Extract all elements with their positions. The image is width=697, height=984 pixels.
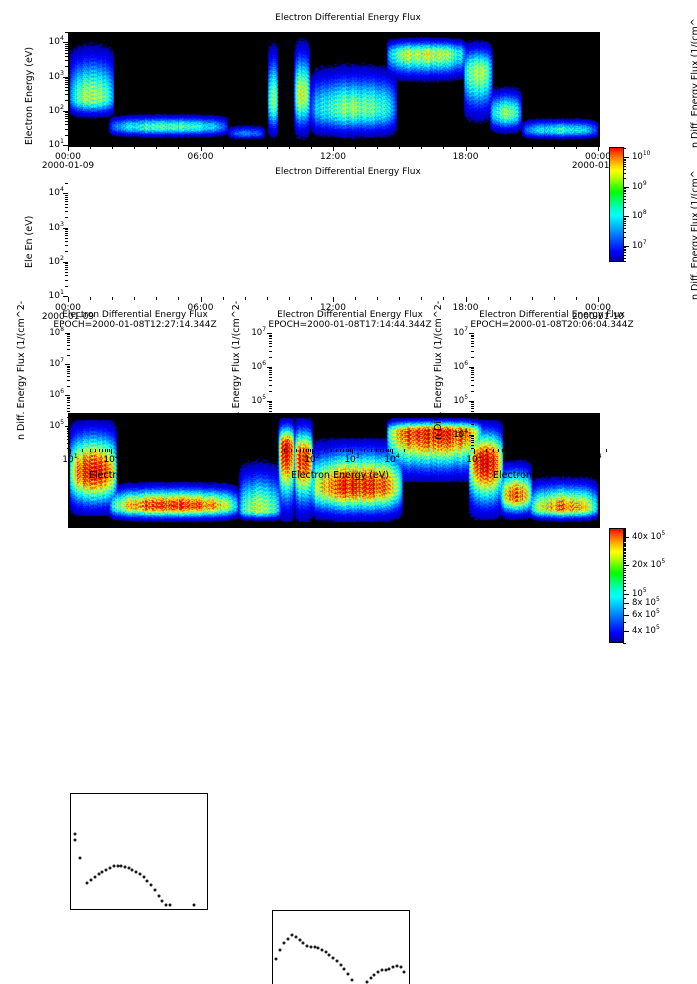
y-minor-tick — [471, 411, 474, 412]
x-minor-tick — [178, 146, 179, 149]
spec2-colorbar-label: n Diff. Energy Flux (1/(cm^ — [690, 170, 697, 300]
spectrum3-subtitle: EPOCH=2000-01-08T20:06:04.344Z — [439, 320, 665, 330]
y-minor-tick — [471, 414, 474, 415]
y-minor-tick — [65, 135, 68, 136]
x-minor-tick — [346, 449, 347, 452]
data-point — [350, 978, 353, 981]
x-minor-tick — [146, 449, 147, 452]
x-minor-tick — [573, 449, 574, 452]
x-minor-tick — [377, 297, 378, 300]
y-minor-tick — [269, 351, 272, 352]
spec1-title: Electron Differential Energy Flux — [148, 13, 548, 23]
x-minor-tick — [566, 449, 567, 452]
y-tick-label: 101 — [49, 140, 64, 150]
y-minor-tick — [65, 48, 68, 49]
x-minor-tick — [364, 449, 365, 452]
x-minor-tick — [380, 449, 381, 452]
data-point — [313, 946, 316, 949]
x-minor-tick — [156, 146, 157, 149]
y-tick-label: 104 — [251, 430, 266, 440]
y-tick-label: 103 — [49, 223, 64, 233]
x-major-tick — [312, 449, 313, 454]
y-minor-tick — [65, 235, 68, 236]
data-point — [392, 966, 395, 969]
y-minor-tick — [67, 376, 70, 377]
x-major-tick — [70, 449, 71, 454]
y-tick-label: 106 — [251, 362, 266, 372]
x-minor-tick — [554, 146, 555, 149]
y-minor-tick — [471, 408, 474, 409]
x-minor-tick — [390, 449, 391, 452]
y-minor-tick — [269, 368, 272, 369]
x-minor-tick — [306, 449, 307, 452]
y-minor-tick — [269, 438, 272, 439]
data-point — [124, 865, 127, 868]
x-minor-tick — [576, 146, 577, 149]
x-minor-tick — [82, 449, 83, 452]
x-minor-tick — [355, 146, 356, 149]
x-minor-tick — [90, 449, 91, 452]
x-minor-tick — [488, 146, 489, 149]
y-minor-tick — [65, 78, 68, 79]
y-minor-tick — [65, 263, 68, 264]
data-point — [291, 934, 294, 937]
y-minor-tick — [65, 280, 68, 281]
y-minor-tick — [65, 129, 68, 130]
x-minor-tick — [165, 449, 166, 452]
y-minor-tick — [471, 445, 474, 446]
x-minor-tick — [311, 146, 312, 149]
x-minor-tick — [598, 146, 599, 149]
x-minor-tick — [592, 449, 593, 452]
x-minor-tick — [223, 297, 224, 300]
x-minor-tick — [421, 146, 422, 149]
spec2-colorbar: 40x 10520x 1051058x 1056x 1054x 105 — [609, 528, 624, 643]
x-minor-tick — [300, 449, 301, 452]
y-minor-tick — [65, 87, 68, 88]
spec1-colorbar-label: n Diff. Energy Flux (1/(cm^ — [690, 18, 697, 148]
y-minor-tick — [67, 402, 70, 403]
y-minor-tick — [269, 336, 272, 337]
x-minor-tick — [554, 297, 555, 300]
data-point — [90, 878, 93, 881]
y-minor-tick — [471, 391, 474, 392]
x-minor-tick — [505, 449, 506, 452]
x-minor-tick — [143, 449, 144, 452]
x-major-tick — [152, 449, 153, 454]
y-minor-tick — [67, 371, 70, 372]
y-minor-tick — [67, 431, 70, 432]
y-minor-tick — [67, 417, 70, 418]
y-minor-tick — [269, 343, 272, 344]
y-tick-label: 104 — [49, 37, 64, 47]
y-minor-tick — [471, 438, 474, 439]
data-point — [279, 949, 282, 952]
x-minor-tick — [377, 146, 378, 149]
x-minor-tick — [190, 449, 191, 452]
spec1-ylabel: Electron Energy (eV) — [24, 47, 35, 145]
y-tick-label: 105 — [251, 396, 266, 406]
y-minor-tick — [269, 442, 272, 443]
y-minor-tick — [65, 286, 68, 287]
x-minor-tick — [296, 449, 297, 452]
x-minor-tick — [308, 449, 309, 452]
data-point — [275, 958, 278, 961]
x-tick-label: 12:00 — [303, 152, 363, 162]
x-minor-tick — [538, 449, 539, 452]
x-minor-tick — [388, 449, 389, 452]
x-minor-tick — [466, 297, 467, 300]
colorbar-tick-label: 4x 105 — [632, 626, 660, 636]
x-minor-tick — [156, 297, 157, 300]
y-minor-tick — [67, 439, 70, 440]
spectrum3-xlabel: Electron Energy (eV) — [472, 470, 612, 481]
data-point — [127, 866, 130, 869]
x-minor-tick — [90, 297, 91, 300]
x-minor-tick — [289, 146, 290, 149]
x-minor-tick — [331, 449, 332, 452]
data-point — [73, 832, 76, 835]
x-minor-tick — [343, 449, 344, 452]
spec1-plot-area — [68, 32, 600, 147]
x-minor-tick — [90, 146, 91, 149]
y-minor-tick — [65, 229, 68, 230]
y-minor-tick — [67, 408, 70, 409]
y-minor-tick — [63, 262, 68, 263]
x-minor-tick — [376, 449, 377, 452]
x-minor-tick — [245, 297, 246, 300]
data-point — [78, 856, 81, 859]
spectrum3-title: Electron Differential Energy Flux — [447, 310, 657, 320]
x-minor-tick — [443, 297, 444, 300]
y-minor-tick — [269, 370, 272, 371]
x-minor-tick — [508, 449, 509, 452]
y-minor-tick — [471, 341, 474, 342]
y-tick-label: 107 — [49, 359, 64, 369]
x-minor-tick — [336, 449, 337, 452]
x-minor-tick — [177, 449, 178, 452]
x-minor-tick — [68, 297, 69, 300]
x-major-tick — [474, 449, 475, 454]
x-minor-tick — [201, 297, 202, 300]
y-minor-tick — [67, 397, 70, 398]
data-point — [101, 870, 104, 873]
x-minor-tick — [107, 449, 108, 452]
data-point — [108, 866, 111, 869]
spec1-y-ticks: 104103102101 — [40, 32, 68, 145]
x-minor-tick — [598, 297, 599, 300]
data-point — [339, 963, 342, 966]
y-minor-tick — [65, 269, 68, 270]
y-minor-tick — [269, 411, 272, 412]
data-point — [93, 875, 96, 878]
spectrum2-subtitle: EPOCH=2000-01-08T17:14:44.344Z — [237, 320, 463, 330]
x-tick-date-label: 2000-01-09 — [33, 161, 103, 171]
y-minor-tick — [269, 391, 272, 392]
y-minor-tick — [65, 195, 68, 196]
y-minor-tick — [269, 436, 272, 437]
y-tick-label: 101 — [49, 291, 64, 301]
x-tick-label: 104 — [586, 455, 601, 465]
x-tick-label: 104 — [384, 455, 399, 465]
x-major-tick — [272, 449, 273, 454]
y-minor-tick — [67, 334, 70, 335]
spectrum1-xlabel: Electron Energy (eV) — [68, 470, 208, 481]
data-point — [120, 865, 123, 868]
y-minor-tick — [65, 197, 68, 198]
y-minor-tick — [471, 406, 474, 407]
spectrum1-title: Electron Differential Energy Flux — [30, 310, 240, 320]
x-minor-tick — [532, 146, 533, 149]
y-minor-tick — [269, 335, 272, 336]
spec2-ylabel: Ele En (eV) — [24, 216, 35, 268]
data-point — [328, 954, 331, 957]
y-minor-tick — [471, 338, 474, 339]
y-minor-tick — [65, 53, 68, 54]
y-minor-tick — [269, 374, 272, 375]
y-minor-tick — [65, 275, 68, 276]
y-minor-tick — [65, 211, 68, 212]
x-tick-label: 103 — [546, 455, 561, 465]
x-minor-tick — [310, 449, 311, 452]
y-minor-tick — [269, 377, 272, 378]
y-minor-tick — [67, 349, 70, 350]
y-minor-tick — [65, 60, 68, 61]
x-major-tick — [352, 449, 353, 454]
x-minor-tick — [576, 297, 577, 300]
x-major-tick — [111, 449, 112, 454]
y-minor-tick — [65, 56, 68, 57]
data-point — [86, 882, 89, 885]
x-minor-tick — [502, 449, 503, 452]
x-minor-tick — [201, 146, 202, 149]
y-minor-tick — [471, 402, 474, 403]
y-tick-label: 107 — [453, 328, 468, 338]
x-minor-tick — [545, 449, 546, 452]
y-minor-tick — [65, 199, 68, 200]
y-minor-tick — [269, 402, 272, 403]
colorbar-tick-label: 40x 105 — [632, 532, 665, 542]
y-minor-tick — [471, 335, 474, 336]
y-minor-tick — [65, 94, 68, 95]
data-point — [97, 873, 100, 876]
x-minor-tick — [510, 297, 511, 300]
x-minor-tick — [548, 449, 549, 452]
x-minor-tick — [102, 449, 103, 452]
x-tick-label: 18:00 — [436, 152, 496, 162]
colorbar-tick-label: 109 — [632, 182, 647, 192]
x-minor-tick — [488, 297, 489, 300]
x-minor-tick — [112, 146, 113, 149]
y-minor-tick — [269, 372, 272, 373]
y-minor-tick — [67, 405, 70, 406]
y-minor-tick — [65, 251, 68, 252]
y-minor-tick — [65, 238, 68, 239]
x-minor-tick — [550, 449, 551, 452]
x-minor-tick — [466, 146, 467, 149]
x-minor-tick — [112, 297, 113, 300]
y-minor-tick — [269, 404, 272, 405]
x-tick-label: 104 — [186, 455, 201, 465]
y-tick-label: 107 — [251, 328, 266, 338]
y-minor-tick — [471, 357, 474, 358]
spectrum2-y-ticks: 107106105104 — [238, 333, 272, 448]
x-minor-tick — [510, 449, 511, 452]
y-minor-tick — [269, 414, 272, 415]
x-minor-tick — [399, 297, 400, 300]
x-minor-tick — [99, 449, 100, 452]
x-tick-label: 102 — [304, 455, 319, 465]
y-minor-tick — [67, 400, 70, 401]
spectrum2-plot-area — [272, 910, 410, 984]
x-minor-tick — [134, 297, 135, 300]
y-minor-tick — [65, 44, 68, 45]
data-point — [168, 904, 171, 907]
x-minor-tick — [350, 449, 351, 452]
y-minor-tick — [269, 380, 272, 381]
data-point — [112, 865, 115, 868]
y-minor-tick — [471, 418, 474, 419]
y-minor-tick — [269, 445, 272, 446]
x-minor-tick — [510, 146, 511, 149]
x-minor-tick — [181, 449, 182, 452]
x-minor-tick — [340, 449, 341, 452]
y-minor-tick — [67, 355, 70, 356]
x-minor-tick — [311, 297, 312, 300]
y-tick-label: 104 — [49, 188, 64, 198]
data-point — [380, 969, 383, 972]
colorbar-tick-label: 108 — [632, 211, 647, 221]
data-point — [384, 968, 387, 971]
x-minor-tick — [399, 146, 400, 149]
data-point — [165, 903, 168, 906]
y-minor-tick — [269, 357, 272, 358]
y-minor-tick — [63, 111, 68, 112]
x-tick-label: 102 — [103, 455, 118, 465]
x-minor-tick — [95, 449, 96, 452]
x-minor-tick — [498, 449, 499, 452]
colorbar-tick-label: 6x 105 — [632, 610, 660, 620]
x-minor-tick — [348, 449, 349, 452]
data-point — [302, 941, 305, 944]
y-minor-tick — [269, 440, 272, 441]
data-point — [298, 938, 301, 941]
spectrum2-x-ticks: 101102103104 — [272, 449, 408, 471]
y-minor-tick — [269, 346, 272, 347]
y-minor-tick — [65, 183, 68, 184]
data-point — [138, 873, 141, 876]
y-minor-tick — [471, 336, 474, 337]
x-minor-tick — [184, 449, 185, 452]
data-point — [142, 875, 145, 878]
y-minor-tick — [67, 436, 70, 437]
data-point — [116, 864, 119, 867]
data-point — [399, 965, 402, 968]
x-minor-tick — [582, 449, 583, 452]
spec2-y-ticks: 104103102101 — [40, 183, 68, 296]
spec1-canvas — [69, 33, 599, 146]
colorbar-tick-label: 1010 — [632, 152, 650, 162]
data-point — [287, 937, 290, 940]
x-minor-tick — [552, 449, 553, 452]
x-tick-label: 101 — [264, 455, 279, 465]
x-minor-tick — [588, 449, 589, 452]
x-tick-label: 101 — [466, 455, 481, 465]
data-point — [283, 942, 286, 945]
x-minor-tick — [443, 146, 444, 149]
x-minor-tick — [333, 297, 334, 300]
y-minor-tick — [471, 436, 474, 437]
x-tick-label: 06:00 — [171, 152, 231, 162]
y-minor-tick — [65, 100, 68, 101]
y-minor-tick — [65, 66, 68, 67]
data-point — [150, 883, 153, 886]
y-minor-tick — [63, 193, 68, 194]
x-minor-tick — [532, 297, 533, 300]
data-point — [369, 976, 372, 979]
y-tick-label: 105 — [453, 396, 468, 406]
spectrum1-ylabel: n Diff. Energy Flux (1/(cm^2- — [16, 301, 27, 440]
y-minor-tick — [471, 370, 474, 371]
x-minor-tick — [267, 146, 268, 149]
data-point — [403, 971, 406, 974]
y-minor-tick — [67, 342, 70, 343]
x-minor-tick — [578, 449, 579, 452]
x-minor-tick — [289, 297, 290, 300]
y-minor-tick — [65, 121, 68, 122]
y-minor-tick — [471, 442, 474, 443]
data-point — [321, 949, 324, 952]
y-minor-tick — [65, 265, 68, 266]
y-minor-tick — [65, 80, 68, 81]
spectrum2-xlabel: Electron Energy (eV) — [270, 470, 410, 481]
data-point — [161, 900, 164, 903]
y-minor-tick — [471, 351, 474, 352]
x-major-tick — [392, 449, 393, 454]
data-point — [377, 970, 380, 973]
data-point — [153, 888, 156, 891]
data-point — [395, 965, 398, 968]
data-point — [335, 960, 338, 963]
x-minor-tick — [383, 449, 384, 452]
data-point — [73, 839, 76, 842]
y-minor-tick — [67, 429, 70, 430]
x-minor-tick — [533, 449, 534, 452]
y-minor-tick — [65, 272, 68, 273]
x-minor-tick — [493, 449, 494, 452]
x-minor-tick — [187, 449, 188, 452]
x-minor-tick — [192, 449, 193, 452]
x-minor-tick — [606, 449, 607, 452]
data-point — [388, 967, 391, 970]
data-point — [135, 870, 138, 873]
colorbar-tick-label: 20x 105 — [632, 560, 665, 570]
y-minor-tick — [65, 112, 68, 113]
y-minor-tick — [65, 241, 68, 242]
y-minor-tick — [65, 233, 68, 234]
y-tick-label: 105 — [49, 421, 64, 431]
data-point — [306, 945, 309, 948]
x-minor-tick — [355, 297, 356, 300]
x-minor-tick — [245, 146, 246, 149]
y-minor-tick — [471, 377, 474, 378]
spectrum3-x-ticks: 101102103104 — [474, 449, 610, 471]
y-minor-tick — [65, 201, 68, 202]
x-minor-tick — [542, 449, 543, 452]
y-minor-tick — [65, 90, 68, 91]
spectrum1-y-ticks: 108107106105 — [36, 333, 70, 448]
x-minor-tick — [486, 449, 487, 452]
